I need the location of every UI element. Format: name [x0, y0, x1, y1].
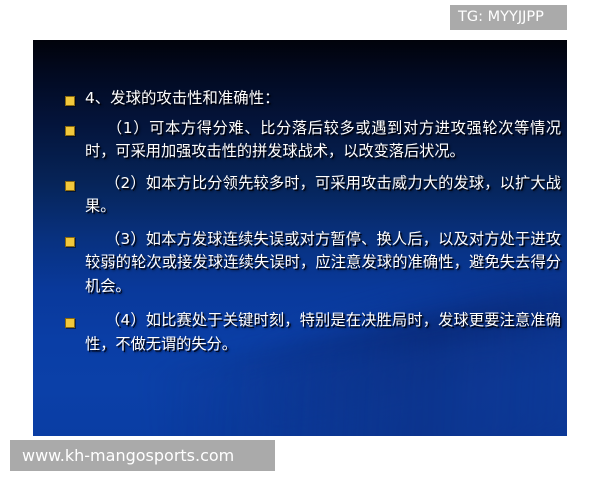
bullet-text: 4、发球的攻击性和准确性： [85, 87, 561, 111]
square-bullet-icon [66, 238, 74, 246]
bullet-text: （3）如本方发球连续失误或对方暂停、换人后，以及对方处于进攻较弱的轮次或接发球连… [85, 228, 561, 299]
bullet-text: （4）如比赛处于关键时刻，特别是在决胜局时，发球更要注意准确性，不做无谓的失分。 [85, 309, 561, 356]
list-item: （2）如本方比分领先较多时，可采用攻击威力大的发球，以扩大战果。 [33, 172, 567, 219]
square-bullet-icon [66, 182, 74, 190]
square-bullet-icon [66, 97, 74, 105]
slide-bullet-list: 4、发球的攻击性和准确性： （1）可本方得分难、比分落后较多或遇到对方进攻强轮次… [33, 40, 567, 362]
square-bullet-icon [66, 127, 74, 135]
list-item: 4、发球的攻击性和准确性： [33, 87, 567, 111]
bullet-text: （2）如本方比分领先较多时，可采用攻击威力大的发球，以扩大战果。 [85, 172, 561, 219]
tg-watermark-label: TG: MYYJJPP [458, 10, 544, 25]
site-watermark-label: www.kh-mangosports.com [22, 448, 234, 464]
list-item: （4）如比赛处于关键时刻，特别是在决胜局时，发球更要注意准确性，不做无谓的失分。 [33, 309, 567, 356]
square-bullet-icon [66, 319, 74, 327]
list-item: （3）如本方发球连续失误或对方暂停、换人后，以及对方处于进攻较弱的轮次或接发球连… [33, 228, 567, 299]
list-item: （1）可本方得分难、比分落后较多或遇到对方进攻强轮次等情况时，可采用加强攻击性的… [33, 117, 567, 164]
tg-watermark-banner: TG: MYYJJPP [450, 5, 567, 30]
presentation-slide: 4、发球的攻击性和准确性： （1）可本方得分难、比分落后较多或遇到对方进攻强轮次… [33, 40, 567, 436]
bullet-text: （1）可本方得分难、比分落后较多或遇到对方进攻强轮次等情况时，可采用加强攻击性的… [85, 117, 561, 164]
site-watermark-banner: www.kh-mangosports.com [10, 440, 275, 471]
